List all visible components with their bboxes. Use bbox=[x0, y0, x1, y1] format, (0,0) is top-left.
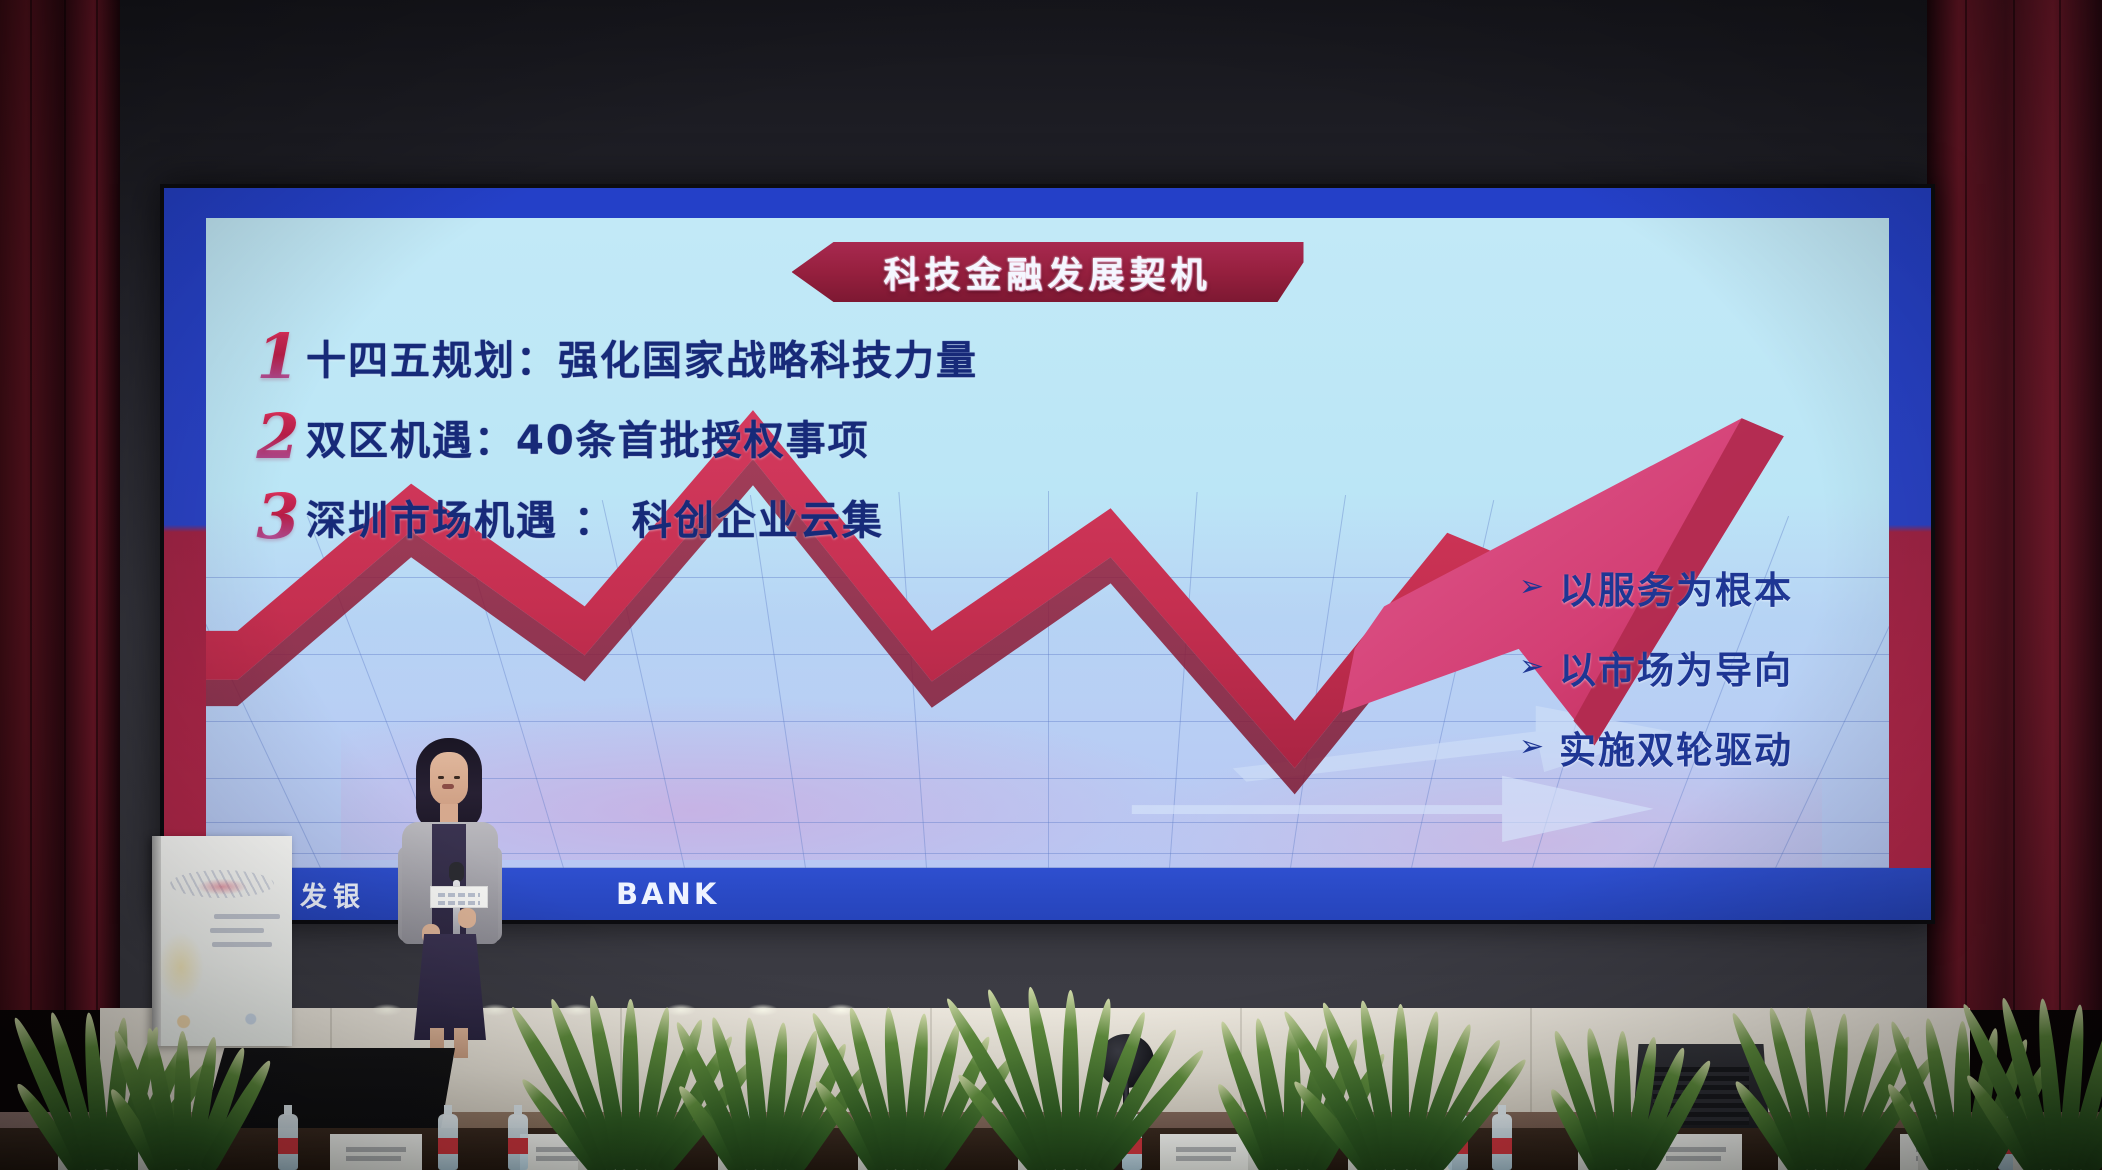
snake-plant bbox=[1330, 985, 1440, 1170]
arrow-bullet-icon: ➢ bbox=[1519, 652, 1559, 682]
water-bottle bbox=[278, 1114, 298, 1170]
arrow-bullet-icon: ➢ bbox=[1519, 572, 1559, 602]
presenter-face bbox=[430, 752, 468, 806]
poster-emblem bbox=[170, 870, 274, 898]
slide-title-banner: 科技金融发展契机 bbox=[792, 242, 1304, 302]
list-item: ➢ 以市场为导向 bbox=[1519, 640, 1793, 694]
snake-plant bbox=[840, 995, 950, 1170]
mic-flag bbox=[430, 886, 488, 908]
snake-plant bbox=[1995, 985, 2102, 1170]
curtain-right bbox=[1927, 0, 2102, 1010]
conference-stage-scene: 科技金融发展契机 1 十四五规划：强化国家战略科技力量 2 双区机遇：40条首批… bbox=[0, 0, 2102, 1170]
water-bottle bbox=[438, 1114, 458, 1170]
point-number: 3 bbox=[250, 491, 306, 544]
point-text: 十四五规划：强化国家战略科技力量 bbox=[306, 328, 978, 386]
point-text: 双区机遇：40条首批授权事项 bbox=[306, 408, 870, 466]
list-item: 2 双区机遇：40条首批授权事项 bbox=[250, 408, 1798, 466]
snake-plant bbox=[700, 1005, 810, 1170]
bullet-text: 以服务为根本 bbox=[1559, 560, 1793, 614]
presenter-dress bbox=[414, 934, 486, 1040]
brand-name-en: BANK bbox=[616, 877, 719, 911]
list-item: ➢ 实施双轮驱动 bbox=[1519, 720, 1793, 774]
podium-poster bbox=[152, 836, 292, 1046]
bullet-point-list: ➢ 以服务为根本 ➢ 以市场为导向 ➢ 实施双轮驱动 bbox=[1519, 560, 1793, 800]
snake-plant bbox=[1000, 970, 1110, 1170]
point-number: 2 bbox=[250, 411, 306, 464]
brand-name-cn: 发银 bbox=[300, 875, 366, 914]
snake-plant bbox=[1560, 1020, 1670, 1170]
water-bottle bbox=[508, 1114, 528, 1170]
bullet-text: 以市场为导向 bbox=[1559, 640, 1793, 694]
snake-plant bbox=[560, 980, 670, 1170]
point-number: 1 bbox=[250, 331, 306, 384]
snake-plant bbox=[120, 1020, 230, 1170]
numbered-point-list: 1 十四五规划：强化国家战略科技力量 2 双区机遇：40条首批授权事项 3 深圳… bbox=[250, 328, 1798, 568]
curtain-left bbox=[0, 0, 120, 1010]
snake-plant bbox=[1900, 1010, 2010, 1170]
list-item: ➢ 以服务为根本 bbox=[1519, 560, 1793, 614]
microphone-icon bbox=[449, 862, 464, 882]
bullet-text: 实施双轮驱动 bbox=[1559, 720, 1793, 774]
water-bottle bbox=[1492, 1114, 1512, 1170]
delegate-name-card bbox=[330, 1134, 422, 1170]
arrow-bullet-icon: ➢ bbox=[1519, 732, 1559, 762]
slide-title: 科技金融发展契机 bbox=[883, 246, 1211, 298]
list-item: 3 深圳市场机遇 ： 科创企业云集 bbox=[250, 488, 1798, 546]
list-item: 1 十四五规划：强化国家战略科技力量 bbox=[250, 328, 1798, 386]
snake-plant bbox=[1760, 995, 1870, 1170]
point-text: 深圳市场机遇 ： 科创企业云集 bbox=[306, 488, 884, 546]
presenter bbox=[392, 738, 508, 1043]
